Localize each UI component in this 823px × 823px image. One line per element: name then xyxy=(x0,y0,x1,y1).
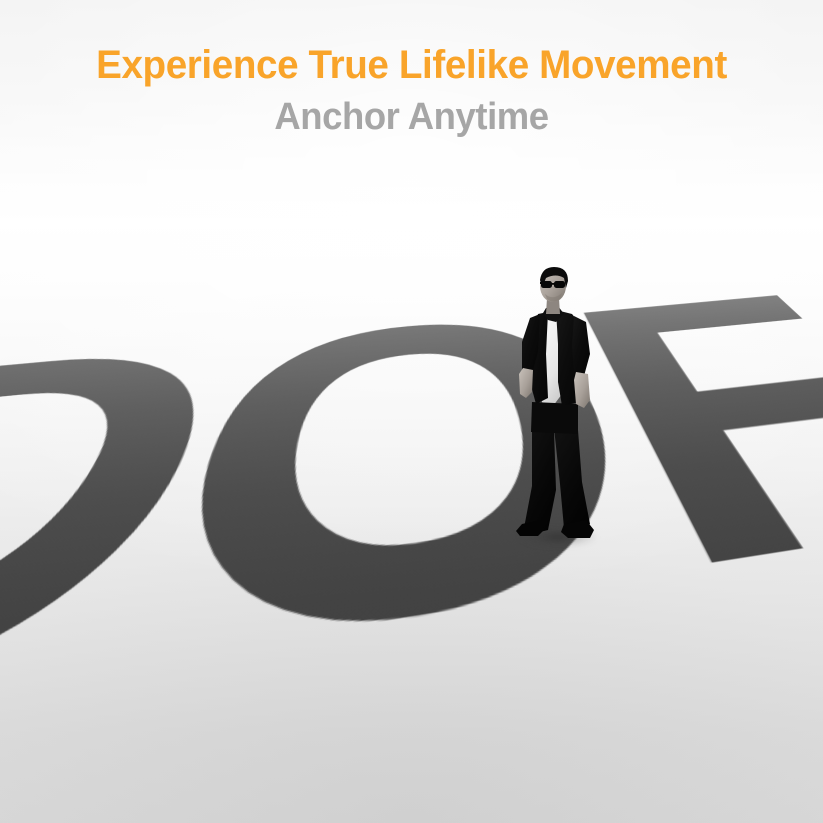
figure-rear-shoe xyxy=(516,520,544,536)
figure-front-leg xyxy=(554,428,590,534)
figure-waistband xyxy=(531,402,578,434)
walking-model-figure xyxy=(498,262,618,552)
floor-text-6dof: 6DOF xyxy=(0,242,823,823)
figure-rear-leg xyxy=(524,430,556,534)
floor-plane: 6DOF xyxy=(0,242,823,823)
page-title: Experience True Lifelike Movement xyxy=(14,0,808,86)
page-subtitle: Anchor Anytime xyxy=(16,86,806,138)
copy-block: Experience True Lifelike Movement Anchor… xyxy=(0,0,823,138)
figure-right-sleeve xyxy=(572,316,590,376)
figure-left-hand xyxy=(519,368,533,398)
promo-banner: 6DOF xyxy=(0,0,823,823)
figure-right-hand xyxy=(574,372,590,408)
